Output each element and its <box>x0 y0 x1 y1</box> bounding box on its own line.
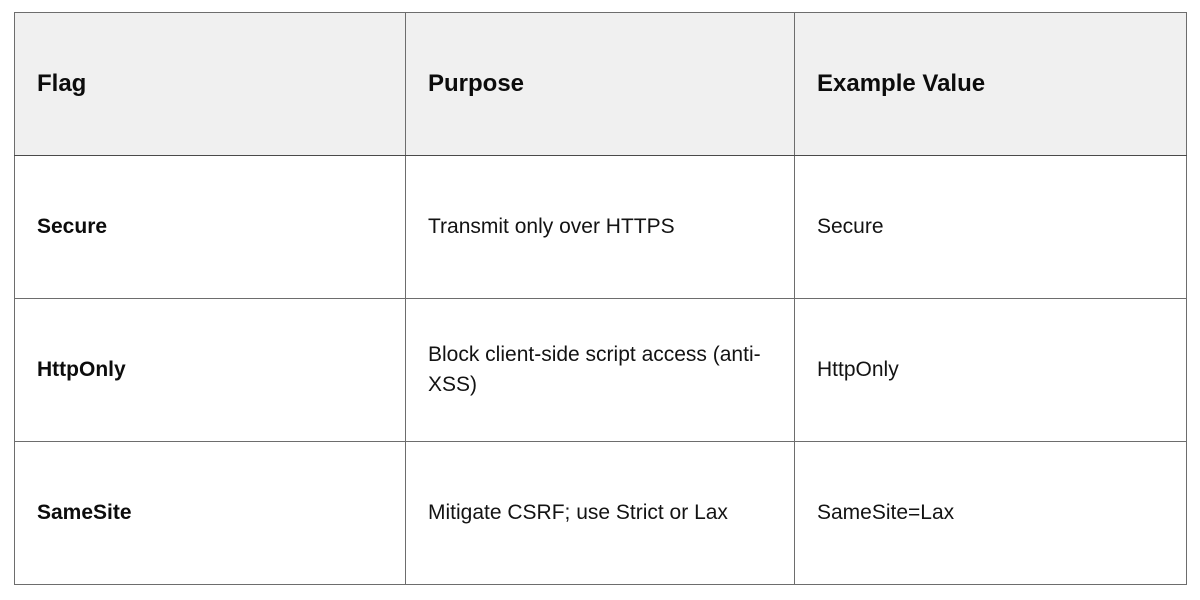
table-header-row: Flag Purpose Example Value <box>15 13 1187 156</box>
cell-example-value: Secure <box>795 156 1187 299</box>
table-row: SameSite Mitigate CSRF; use Strict or La… <box>15 442 1187 585</box>
column-header-example-value: Example Value <box>795 13 1187 156</box>
column-header-purpose-label: Purpose <box>428 68 774 99</box>
cell-purpose: Block client-side script access (anti-XS… <box>406 299 795 442</box>
cell-flag: Secure <box>15 156 406 299</box>
table-row: HttpOnly Block client-side script access… <box>15 299 1187 442</box>
cell-purpose-text: Transmit only over HTTPS <box>428 212 774 242</box>
cell-purpose-text: Block client-side script access (anti-XS… <box>428 340 774 401</box>
cell-flag-text: SameSite <box>37 498 385 528</box>
cell-example-value-text: SameSite=Lax <box>817 498 1166 528</box>
table-header: Flag Purpose Example Value <box>15 13 1187 156</box>
cell-flag-text: HttpOnly <box>37 355 385 385</box>
column-header-purpose: Purpose <box>406 13 795 156</box>
column-header-flag: Flag <box>15 13 406 156</box>
cell-example-value-text: Secure <box>817 212 1166 242</box>
table-body: Secure Transmit only over HTTPS Secure H… <box>15 156 1187 585</box>
cell-purpose: Mitigate CSRF; use Strict or Lax <box>406 442 795 585</box>
cell-example-value: HttpOnly <box>795 299 1187 442</box>
cell-flag: HttpOnly <box>15 299 406 442</box>
cell-flag: SameSite <box>15 442 406 585</box>
cell-example-value: SameSite=Lax <box>795 442 1187 585</box>
cookie-flags-table: Flag Purpose Example Value Secure Transm… <box>14 12 1187 585</box>
cell-purpose: Transmit only over HTTPS <box>406 156 795 299</box>
cookie-flags-table-container: Flag Purpose Example Value Secure Transm… <box>14 12 1186 583</box>
cell-example-value-text: HttpOnly <box>817 355 1166 385</box>
column-header-example-value-label: Example Value <box>817 68 1166 99</box>
table-row: Secure Transmit only over HTTPS Secure <box>15 156 1187 299</box>
cell-flag-text: Secure <box>37 212 385 242</box>
column-header-flag-label: Flag <box>37 68 385 99</box>
cell-purpose-text: Mitigate CSRF; use Strict or Lax <box>428 498 774 528</box>
